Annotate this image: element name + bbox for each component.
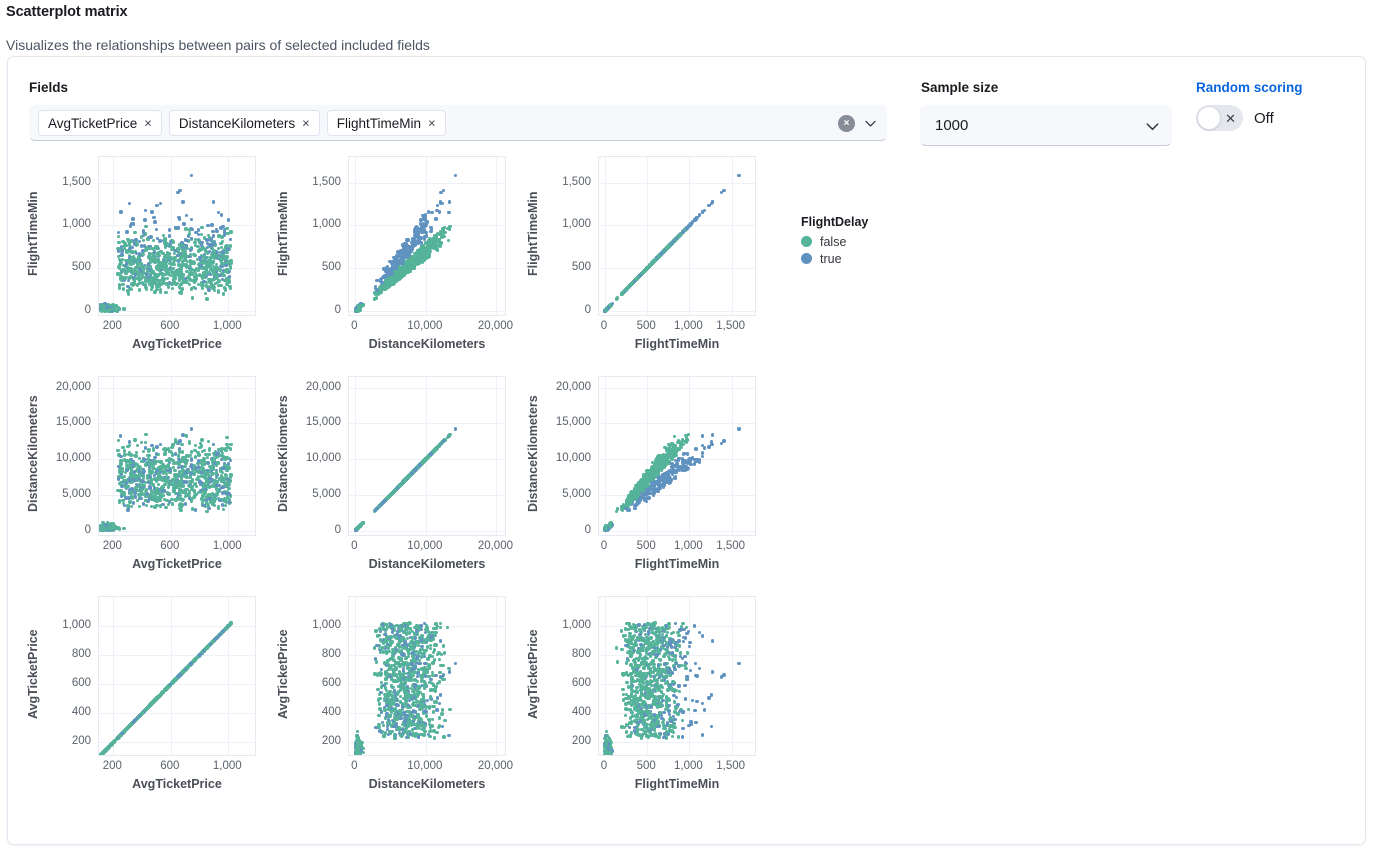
data-point — [155, 246, 158, 249]
data-point — [171, 443, 174, 446]
data-point — [129, 472, 132, 475]
scatter-cell-flighttimemin-vs-avgticketprice: FlightTimeMin05001,0001,5002006001,000Av… — [22, 153, 272, 373]
x-axis-tick-label: 200 — [103, 320, 122, 332]
data-point — [146, 237, 149, 240]
data-point — [168, 234, 171, 237]
data-point — [202, 275, 205, 278]
data-point — [159, 460, 162, 463]
data-point — [212, 249, 215, 252]
data-point — [224, 504, 227, 507]
data-point — [192, 286, 195, 289]
y-axis-tick-label: 0 — [85, 304, 91, 316]
field-pill-label: AvgTicketPrice — [48, 116, 137, 131]
data-point — [188, 278, 191, 281]
data-point — [181, 450, 184, 453]
data-point — [701, 210, 704, 213]
data-point — [133, 438, 136, 441]
data-point — [215, 267, 218, 270]
data-point — [405, 252, 408, 255]
data-point — [384, 282, 387, 285]
data-point — [202, 280, 205, 283]
data-point — [200, 444, 203, 447]
data-point — [438, 244, 441, 247]
data-point — [222, 508, 225, 511]
data-point — [208, 243, 211, 246]
data-point — [229, 443, 232, 446]
y-axis-tick-label: 15,000 — [306, 416, 341, 428]
data-point — [211, 472, 214, 475]
data-point — [180, 264, 183, 267]
data-point — [157, 496, 160, 499]
data-point — [165, 255, 168, 258]
data-point — [173, 252, 176, 255]
data-point — [202, 504, 205, 507]
data-point — [665, 246, 668, 249]
data-point — [178, 277, 181, 280]
sample-size-value: 1000 — [935, 117, 968, 134]
combobox-actions: × — [838, 106, 877, 140]
data-point — [158, 239, 161, 242]
data-point — [147, 448, 150, 451]
data-point — [153, 220, 156, 223]
data-point — [228, 280, 231, 283]
y-axis-tick-label: 0 — [585, 304, 591, 316]
data-point — [438, 210, 441, 213]
data-point — [681, 231, 684, 234]
data-point — [220, 235, 223, 238]
y-axis-tick-label: 1,500 — [562, 176, 591, 188]
sample-size-select[interactable]: 1000 — [920, 105, 1172, 146]
data-point — [178, 439, 181, 442]
data-point — [163, 452, 166, 455]
data-point — [190, 218, 193, 221]
data-point — [129, 267, 132, 270]
data-point — [227, 218, 230, 221]
legend-title: FlightDelay — [801, 215, 868, 229]
data-point — [215, 480, 218, 483]
data-point — [221, 225, 224, 228]
data-point — [398, 278, 401, 281]
data-point — [144, 283, 147, 286]
gridline-horizontal — [349, 388, 505, 389]
data-point — [220, 213, 223, 216]
data-point — [424, 223, 427, 226]
data-point — [205, 479, 208, 482]
data-point — [441, 228, 444, 231]
data-point — [124, 471, 127, 474]
data-point — [190, 458, 193, 461]
data-point — [143, 218, 146, 221]
legend-color-swatch — [801, 253, 812, 264]
data-point — [106, 309, 109, 312]
data-point — [159, 202, 162, 205]
data-point — [138, 288, 141, 291]
remove-field-icon[interactable]: × — [428, 116, 436, 129]
y-axis-tick-label: 0 — [335, 524, 341, 536]
data-point — [217, 211, 220, 214]
data-point — [126, 508, 129, 511]
data-point — [163, 489, 166, 492]
data-point — [118, 287, 121, 290]
data-point — [185, 270, 188, 273]
data-point — [140, 235, 143, 238]
data-point — [225, 483, 228, 486]
plot-area[interactable] — [98, 156, 256, 316]
data-point — [201, 287, 204, 290]
data-point — [213, 289, 216, 292]
data-point — [184, 495, 187, 498]
x-axis-tick-label: 600 — [160, 540, 179, 552]
data-point — [190, 427, 193, 430]
data-point — [178, 503, 181, 506]
data-point — [185, 214, 188, 217]
data-point — [410, 248, 413, 251]
legend-color-swatch — [801, 236, 812, 247]
data-point — [136, 264, 139, 267]
data-point — [160, 486, 163, 489]
gridline-horizontal — [349, 268, 505, 269]
data-point — [171, 502, 174, 505]
legend-item-label: false — [820, 235, 846, 249]
plot-area[interactable] — [598, 156, 756, 316]
data-point — [168, 262, 171, 265]
data-point — [227, 466, 230, 469]
data-point — [222, 292, 225, 295]
data-point — [218, 274, 221, 277]
data-point — [193, 496, 196, 499]
data-point — [132, 501, 135, 504]
data-point — [161, 276, 164, 279]
data-point — [208, 448, 211, 451]
data-point — [193, 449, 196, 452]
gridline-vertical — [113, 377, 114, 535]
data-point — [227, 260, 230, 263]
data-point — [181, 248, 184, 251]
data-point — [195, 485, 198, 488]
clear-all-icon[interactable]: × — [838, 115, 855, 132]
data-point — [101, 304, 104, 307]
data-point — [157, 273, 160, 276]
data-point — [140, 244, 143, 247]
y-axis-tick-label: 20,000 — [306, 381, 341, 393]
data-point — [385, 268, 388, 271]
gridline-horizontal — [99, 388, 255, 389]
gridline-horizontal — [99, 183, 255, 184]
fields-label: Fields — [29, 80, 68, 95]
x-axis-tick-label: 1,000 — [674, 320, 703, 332]
data-point — [130, 495, 133, 498]
data-point — [190, 174, 193, 177]
data-point — [188, 232, 191, 235]
y-axis-tick-label: 0 — [335, 304, 341, 316]
data-point — [180, 290, 183, 293]
data-point — [110, 308, 113, 311]
field-pill-label: DistanceKilometers — [179, 116, 295, 131]
data-point — [138, 505, 141, 508]
close-icon: ✕ — [1225, 112, 1236, 125]
data-point — [138, 495, 141, 498]
data-point — [122, 287, 125, 290]
data-point — [194, 444, 197, 447]
data-point — [144, 225, 147, 228]
field-pill-distancekilometers[interactable]: DistanceKilometers × — [169, 110, 320, 136]
data-point — [201, 467, 204, 470]
data-point — [168, 228, 171, 231]
data-point — [173, 469, 176, 472]
data-point — [144, 209, 147, 212]
data-point — [121, 283, 124, 286]
y-axis-tick-label: 500 — [322, 261, 341, 273]
data-point — [165, 448, 168, 451]
y-axis-ticks: 05,00010,00015,00020,000 — [292, 373, 345, 535]
y-axis-tick-label: 1,000 — [62, 218, 91, 230]
data-point — [128, 202, 131, 205]
y-axis-tick-label: 0 — [85, 524, 91, 536]
data-point — [395, 256, 398, 259]
data-point — [184, 238, 187, 241]
data-point — [155, 487, 158, 490]
data-point — [161, 266, 164, 269]
y-axis-tick-label: 10,000 — [306, 452, 341, 464]
gridline-vertical — [355, 157, 356, 315]
random-scoring-label[interactable]: Random scoring — [1196, 80, 1303, 95]
legend: FlightDelay false true — [801, 215, 868, 267]
fields-combobox[interactable]: AvgTicketPrice × DistanceKilometers × Fl… — [29, 105, 887, 141]
data-point — [122, 527, 125, 530]
data-point — [205, 270, 208, 273]
y-axis-label: FlightTimeMin — [24, 153, 42, 315]
data-point — [184, 280, 187, 283]
data-point — [220, 447, 223, 450]
data-point — [130, 487, 133, 490]
data-point — [657, 255, 660, 258]
data-point — [178, 189, 181, 192]
data-point — [138, 469, 141, 472]
data-point — [224, 449, 227, 452]
data-point — [167, 503, 170, 506]
data-point — [126, 504, 129, 507]
scatter-cell-flighttimemin-vs-distancekilometers: FlightTimeMin05001,0001,500010,00020,000… — [272, 153, 522, 373]
data-point — [213, 504, 216, 507]
y-axis-label: FlightTimeMin — [274, 153, 292, 315]
data-point — [123, 268, 126, 271]
data-point — [409, 259, 412, 262]
data-point — [429, 250, 432, 253]
data-point — [388, 260, 391, 263]
data-point — [180, 255, 183, 258]
data-point — [447, 211, 450, 214]
x-axis-ticks: 2006001,000 — [98, 539, 256, 557]
data-point — [373, 297, 376, 300]
data-point — [128, 444, 131, 447]
data-point — [159, 443, 162, 446]
y-axis-tick-label: 5,000 — [62, 488, 91, 500]
data-point — [140, 263, 143, 266]
remove-field-icon[interactable]: × — [302, 116, 310, 129]
data-point — [179, 481, 182, 484]
x-axis-tick-label: 600 — [160, 320, 179, 332]
data-point — [209, 278, 212, 281]
data-point — [439, 200, 442, 203]
data-point — [189, 472, 192, 475]
data-point — [208, 477, 211, 480]
data-point — [117, 477, 120, 480]
data-point — [145, 288, 148, 291]
data-point — [173, 259, 176, 262]
data-point — [633, 280, 636, 283]
data-point — [121, 467, 124, 470]
data-point — [213, 241, 216, 244]
data-point — [126, 285, 129, 288]
data-point — [154, 276, 157, 279]
data-point — [224, 492, 227, 495]
plot-area[interactable] — [98, 376, 256, 536]
data-point — [174, 271, 177, 274]
legend-item-false[interactable]: false — [801, 233, 868, 250]
gridline-vertical — [647, 157, 648, 315]
data-point — [155, 445, 158, 448]
gridline-vertical — [228, 157, 229, 315]
data-point — [149, 471, 152, 474]
data-point — [116, 449, 119, 452]
data-point — [650, 262, 653, 265]
data-point — [140, 460, 143, 463]
data-point — [123, 244, 126, 247]
data-point — [142, 468, 145, 471]
data-point — [181, 200, 184, 203]
data-point — [190, 463, 193, 466]
field-pill-avgticketprice[interactable]: AvgTicketPrice × — [38, 110, 162, 136]
gridline-vertical — [689, 157, 690, 315]
data-point — [142, 229, 145, 232]
data-point — [116, 526, 119, 529]
data-point — [138, 281, 141, 284]
data-point — [198, 480, 201, 483]
data-point — [121, 240, 124, 243]
data-point — [177, 226, 180, 229]
scatter-cell-flighttimemin-vs-flighttimemin: FlightTimeMin05001,0001,50005001,0001,50… — [522, 153, 772, 373]
data-point — [225, 436, 228, 439]
x-axis-ticks: 05001,0001,500 — [598, 319, 756, 337]
data-point — [173, 461, 176, 464]
x-axis-label: AvgTicketPrice — [62, 337, 292, 351]
data-point — [218, 499, 221, 502]
data-point — [178, 217, 181, 220]
data-point — [221, 467, 224, 470]
remove-field-icon[interactable]: × — [144, 116, 152, 129]
data-point — [110, 527, 113, 530]
data-point — [163, 498, 166, 501]
data-point — [173, 263, 176, 266]
gridline-horizontal — [349, 311, 505, 312]
legend-item-true[interactable]: true — [801, 250, 868, 267]
data-point — [181, 456, 184, 459]
data-point — [164, 506, 167, 509]
data-point — [206, 224, 209, 227]
data-point — [157, 453, 160, 456]
data-point — [169, 468, 172, 471]
data-point — [155, 288, 158, 291]
data-point — [203, 449, 206, 452]
data-point — [427, 210, 430, 213]
data-point — [207, 288, 210, 291]
data-point — [205, 510, 208, 513]
data-point — [215, 452, 218, 455]
data-point — [149, 247, 152, 250]
data-point — [189, 259, 192, 262]
data-point — [163, 483, 166, 486]
data-point — [170, 248, 173, 251]
plot-area[interactable] — [348, 156, 506, 316]
data-point — [228, 275, 231, 278]
x-axis-tick-label: 10,000 — [407, 320, 442, 332]
data-point — [229, 473, 232, 476]
data-point — [101, 521, 104, 524]
data-point — [126, 289, 129, 292]
sample-size-label: Sample size — [921, 80, 998, 95]
data-point — [447, 239, 450, 242]
scatterplot-matrix-grid: FlightTimeMin05001,0001,5002006001,000Av… — [22, 153, 772, 825]
data-point — [421, 261, 424, 264]
data-point — [383, 274, 386, 277]
data-point — [229, 244, 232, 247]
data-point — [212, 268, 215, 271]
data-point — [426, 220, 429, 223]
plot-area[interactable] — [348, 376, 506, 536]
data-point — [615, 297, 618, 300]
data-point — [184, 434, 187, 437]
random-scoring-toggle[interactable]: ✕ — [1196, 105, 1243, 131]
gridline-vertical — [355, 377, 356, 535]
data-point — [161, 478, 164, 481]
data-point — [219, 258, 222, 261]
gridline-horizontal — [99, 531, 255, 532]
gridline-vertical — [605, 157, 606, 315]
data-point — [127, 292, 130, 295]
data-point — [155, 228, 158, 231]
data-point — [184, 502, 187, 505]
y-axis-ticks: 05001,0001,500 — [542, 153, 595, 315]
data-point — [419, 218, 422, 221]
gridline-vertical — [171, 157, 172, 315]
data-point — [226, 247, 229, 250]
x-axis-ticks: 010,00020,000 — [348, 319, 506, 337]
x-axis-tick-label: 1,000 — [213, 320, 242, 332]
data-point — [189, 263, 192, 266]
data-point — [193, 280, 196, 283]
data-point — [117, 439, 120, 442]
chevron-down-icon[interactable] — [1145, 119, 1158, 132]
data-point — [188, 228, 191, 231]
data-point — [200, 226, 203, 229]
data-point — [440, 235, 443, 238]
data-point — [421, 228, 424, 231]
data-point — [410, 267, 413, 270]
data-point — [183, 258, 186, 261]
data-point — [210, 223, 213, 226]
data-point — [406, 267, 409, 270]
data-point — [179, 509, 182, 512]
data-point — [165, 459, 168, 462]
data-point — [222, 456, 225, 459]
data-point — [117, 235, 120, 238]
x-axis-tick-label: 500 — [637, 320, 656, 332]
data-point — [226, 232, 229, 235]
chevron-down-icon[interactable] — [864, 117, 877, 130]
field-pill-flighttimemin[interactable]: FlightTimeMin × — [327, 110, 446, 136]
data-point — [413, 240, 416, 243]
data-point — [201, 494, 204, 497]
